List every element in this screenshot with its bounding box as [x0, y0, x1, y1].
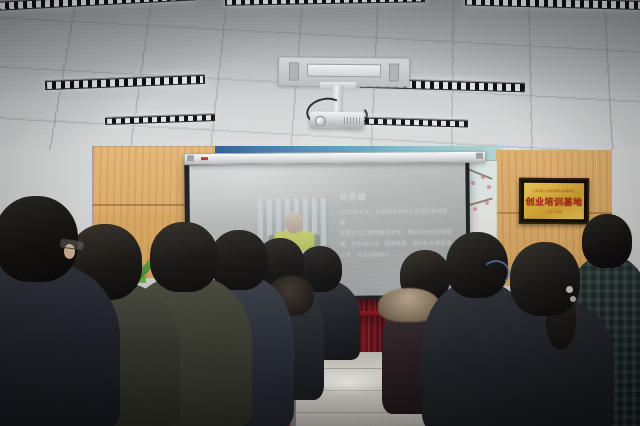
projector-vents	[344, 117, 360, 124]
projector-lens-icon	[315, 116, 326, 127]
plaque-top-line: 江苏省人力资源和社会保障厅	[533, 188, 576, 192]
ceiling-projector-icon[interactable]	[310, 112, 364, 129]
hair-clip-icon	[570, 296, 576, 302]
slide-title: 许秀峰	[340, 191, 452, 203]
slide-body-line: 1972年出生，先后担任苏州工业园区科技发展	[340, 207, 452, 229]
screen-status-led	[201, 157, 208, 160]
audience-person	[490, 242, 600, 426]
meeting-room-photo: 江苏省人力资源和社会保障厅 创业培训基地 二〇一四年	[0, 0, 640, 426]
plaque-main-text: 创业培训基地	[525, 194, 582, 207]
plaque-bottom-line: 二〇一四年	[546, 209, 562, 213]
hair-clip-icon	[566, 286, 573, 293]
audience-person-foreground	[0, 196, 122, 426]
